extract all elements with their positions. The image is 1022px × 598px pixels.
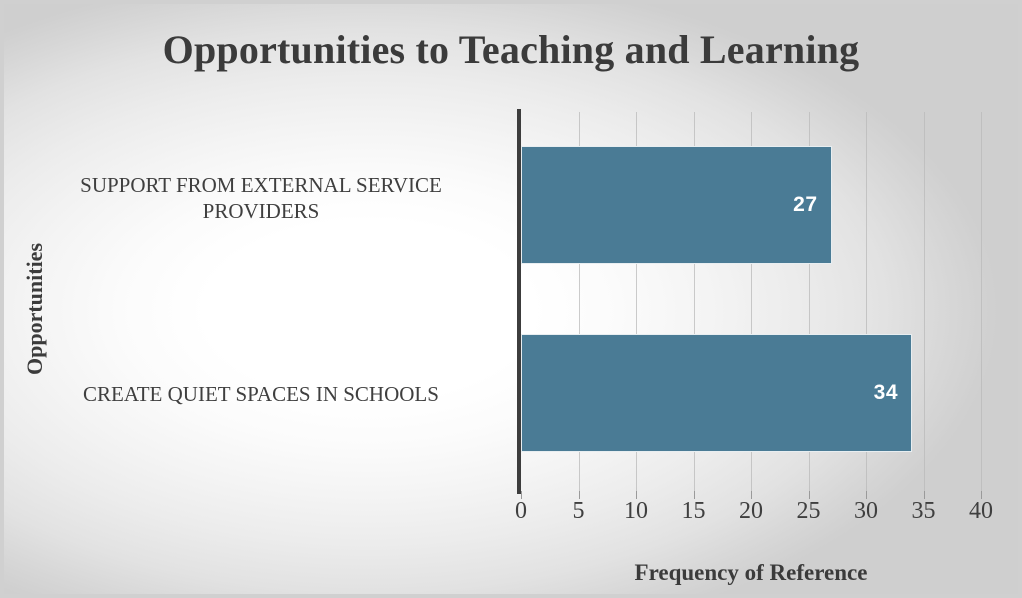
x-tick-label-30: 30 (836, 498, 896, 525)
y-axis-title: Opportunities (22, 179, 52, 439)
category-label-line1: SUPPORT FROM EXTERNAL SERVICE (36, 172, 486, 198)
x-tick-label-10: 10 (606, 498, 666, 525)
x-tick-label-0: 0 (491, 498, 551, 525)
category-label-support-from-external-service-providers: SUPPORT FROM EXTERNAL SERVICE PROVIDERS (36, 172, 486, 225)
bar-value-label-0: 27 (793, 193, 830, 217)
gridline-35 (924, 112, 925, 491)
bar-1[interactable]: 34 (521, 334, 912, 452)
bar-value-label-1: 34 (874, 381, 911, 405)
chart-container: Opportunities to Teaching and Learning S… (0, 0, 1022, 598)
category-label-line2: PROVIDERS (36, 198, 486, 224)
gridline-40 (981, 112, 982, 491)
category-label-create-quiet-spaces-in-schools: CREATE QUIET SPACES IN SCHOOLS (36, 381, 486, 407)
x-tick-label-25: 25 (779, 498, 839, 525)
x-tick-label-35: 35 (894, 498, 954, 525)
x-tick-label-40: 40 (951, 498, 1011, 525)
x-tick-label-15: 15 (664, 498, 724, 525)
category-label-line1: CREATE QUIET SPACES IN SCHOOLS (36, 381, 486, 407)
x-tick-label-5: 5 (549, 498, 609, 525)
chart-title: Opportunities to Teaching and Learning (4, 26, 1018, 73)
bar-0[interactable]: 27 (521, 146, 832, 264)
x-tick-label-20: 20 (721, 498, 781, 525)
x-axis-title: Frequency of Reference (521, 560, 981, 586)
